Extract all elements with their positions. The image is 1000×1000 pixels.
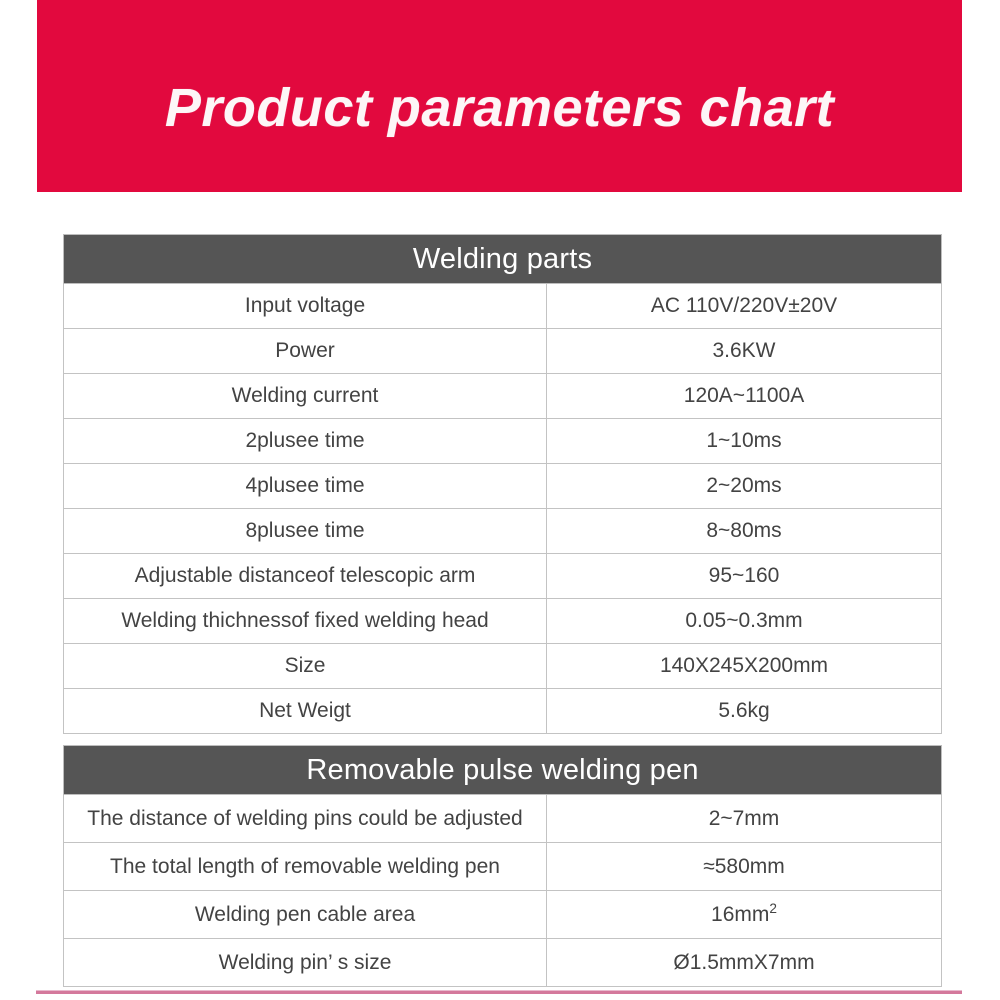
table-row: 8plusee time8~80ms [64,509,942,554]
table-row: 2plusee time1~10ms [64,419,942,464]
spec-label: Welding thichnessof fixed welding head [64,599,547,644]
spec-table-welding-pen: Removable pulse welding pen The distance… [63,745,942,987]
spec-value: 5.6kg [547,689,942,734]
spec-label: Input voltage [64,284,547,329]
table-row: 4plusee time2~20ms [64,464,942,509]
spec-value: 120A~1100A [547,374,942,419]
spec-value: 16mm2 [547,891,942,939]
table-row: The total length of removable welding pe… [64,843,942,891]
spec-rows-welding-pen: The distance of welding pins could be ad… [64,795,942,987]
table-row: Welding current120A~1100A [64,374,942,419]
table-row: Size140X245X200mm [64,644,942,689]
spec-table-welding-parts: Welding parts Input voltageAC 110V/220V±… [63,234,942,734]
spec-label: Welding pin’ s size [64,939,547,987]
spec-label: 8plusee time [64,509,547,554]
spec-label: Welding pen cable area [64,891,547,939]
table-section-header-row: Welding parts [64,235,942,284]
table-section-header-row: Removable pulse welding pen [64,746,942,795]
spec-rows-welding-parts: Input voltageAC 110V/220V±20VPower3.6KWW… [64,284,942,734]
spec-value: 0.05~0.3mm [547,599,942,644]
spec-value: 1~10ms [547,419,942,464]
page-header-banner: Product parameters chart [37,0,962,192]
spec-value: 140X245X200mm [547,644,942,689]
spec-value-superscript: 2 [769,901,777,916]
spec-value: AC 110V/220V±20V [547,284,942,329]
spec-value: 3.6KW [547,329,942,374]
spec-value: 8~80ms [547,509,942,554]
spec-value: Ø1.5mmX7mm [547,939,942,987]
table-row: Welding pen cable area16mm2 [64,891,942,939]
spec-label: The total length of removable welding pe… [64,843,547,891]
table-row: Net Weigt5.6kg [64,689,942,734]
spec-value: ≈580mm [547,843,942,891]
bottom-accent-rule [36,990,962,994]
table-row: Welding pin’ s sizeØ1.5mmX7mm [64,939,942,987]
table-row: The distance of welding pins could be ad… [64,795,942,843]
table-row: Power3.6KW [64,329,942,374]
table-row: Welding thichnessof fixed welding head0.… [64,599,942,644]
section-title-welding-pen: Removable pulse welding pen [64,746,942,795]
spec-label: Net Weigt [64,689,547,734]
table-row: Input voltageAC 110V/220V±20V [64,284,942,329]
spec-label: Adjustable distanceof telescopic arm [64,554,547,599]
spec-value: 2~7mm [547,795,942,843]
section-title-welding-parts: Welding parts [64,235,942,284]
spec-label: 2plusee time [64,419,547,464]
spec-label: Welding current [64,374,547,419]
spec-value: 95~160 [547,554,942,599]
spec-label: Size [64,644,547,689]
spec-value: 2~20ms [547,464,942,509]
spec-label: Power [64,329,547,374]
page-title: Product parameters chart [37,78,962,138]
table-row: Adjustable distanceof telescopic arm95~1… [64,554,942,599]
spec-label: The distance of welding pins could be ad… [64,795,547,843]
spec-label: 4plusee time [64,464,547,509]
